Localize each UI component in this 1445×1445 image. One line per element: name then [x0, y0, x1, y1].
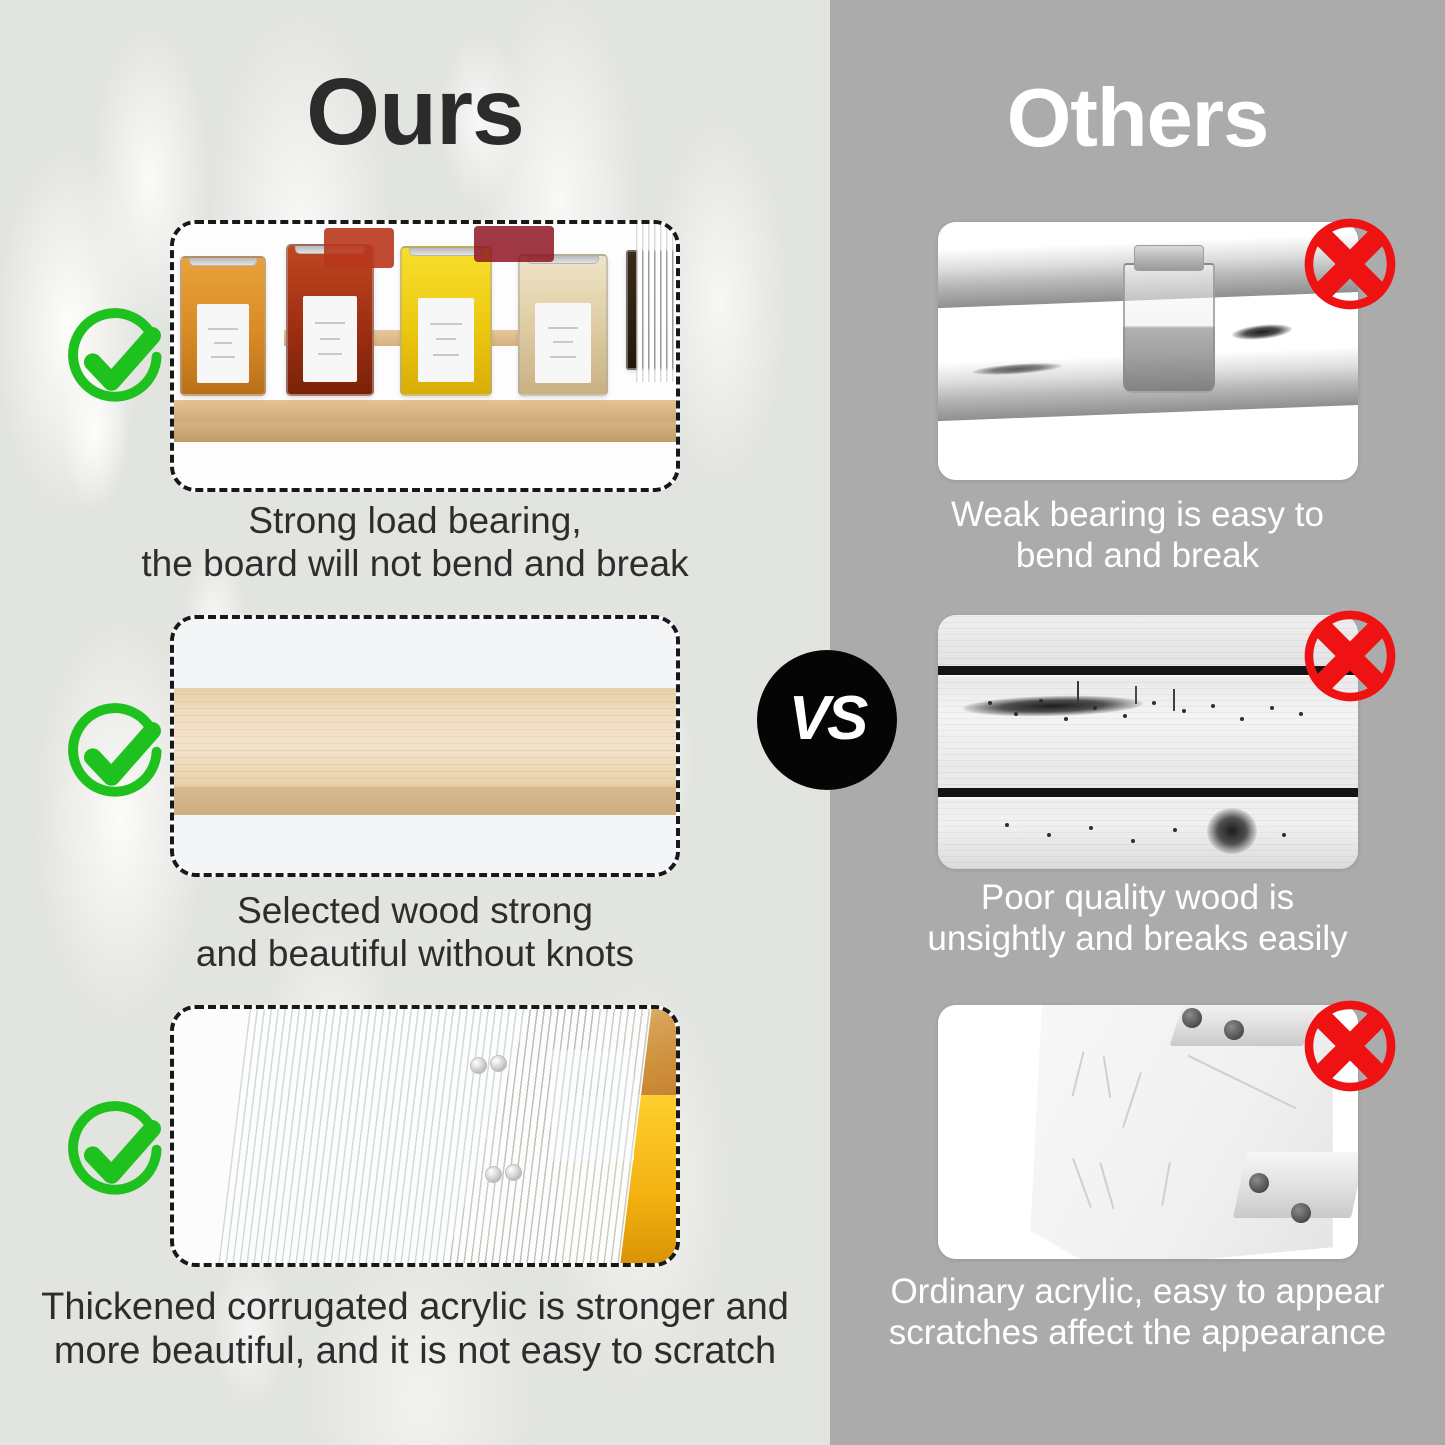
ours-caption-1: Strong load bearing, the board will not … [0, 500, 830, 586]
ours-title: Ours [0, 58, 830, 167]
ours-caption-3: Thickened corrugated acrylic is stronger… [0, 1285, 830, 1373]
check-circle-icon-3 [62, 1098, 172, 1208]
others-image-2-knotty-wood [938, 615, 1358, 869]
ours-image-3-corrugated-acrylic [170, 1005, 680, 1267]
ours-image-2-wood-plank [170, 615, 680, 877]
vs-badge-label: VS [789, 683, 866, 754]
others-caption-3: Ordinary acrylic, easy to appear scratch… [830, 1272, 1445, 1353]
others-caption-2: Poor quality wood is unsightly and break… [830, 878, 1445, 959]
others-title: Others [830, 70, 1445, 166]
others-image-3-scratched-acrylic [938, 1005, 1358, 1259]
check-circle-icon-2 [62, 700, 172, 810]
vs-badge: VS [757, 650, 897, 790]
cross-circle-icon-2 [1296, 602, 1404, 710]
cross-circle-icon-3 [1296, 992, 1404, 1100]
comparison-infographic: Ours Others [0, 0, 1445, 1445]
cross-circle-icon-1 [1296, 210, 1404, 318]
others-image-1-bending-shelf [938, 222, 1358, 480]
check-circle-icon-1 [62, 305, 172, 415]
others-caption-1: Weak bearing is easy to bend and break [830, 495, 1445, 576]
ours-caption-2: Selected wood strong and beautiful witho… [0, 890, 830, 976]
ours-image-1-spice-jars [170, 220, 680, 492]
